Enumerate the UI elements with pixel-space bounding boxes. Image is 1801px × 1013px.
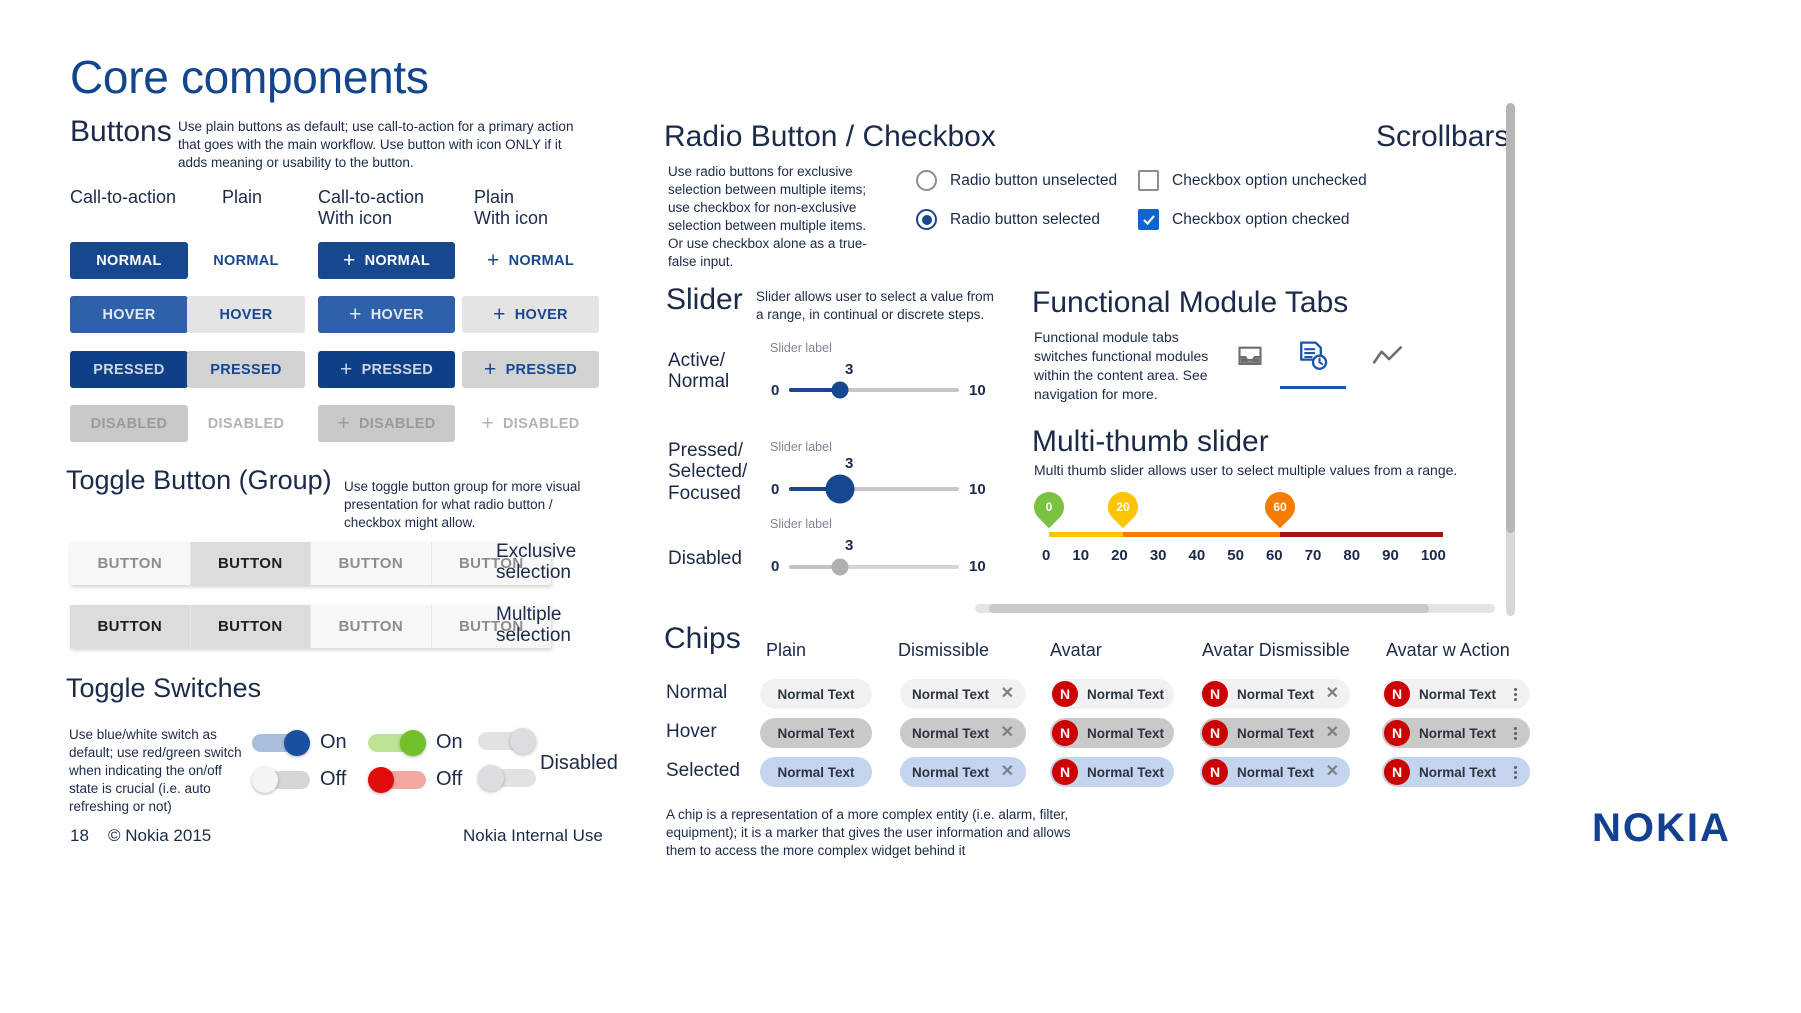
- button-label: NORMAL: [96, 253, 161, 269]
- tab-document-clock[interactable]: [1296, 340, 1346, 389]
- button-plain-disabled: DISABLED: [187, 405, 305, 442]
- slider-row-2-state: Disabled: [668, 548, 742, 570]
- tick: 40: [1189, 547, 1206, 564]
- avatar: N: [1384, 720, 1410, 746]
- chip-plain-normal[interactable]: Normal Text: [760, 679, 872, 709]
- slider-thumb[interactable]: [826, 475, 855, 504]
- slider-row-0-state: Active/ Normal: [668, 350, 729, 393]
- nokia-logo: NOKIA: [1592, 806, 1731, 851]
- label-line-2: selection: [496, 625, 571, 646]
- multi-slider-thumb-1[interactable]: 20: [1102, 486, 1144, 528]
- slider-heading: Slider: [666, 283, 743, 317]
- chip-label: Normal Text: [1419, 726, 1496, 741]
- tick: 100: [1421, 547, 1446, 564]
- button-label: DISABLED: [208, 416, 285, 432]
- switch-knob: [284, 730, 310, 756]
- button-plain-normal[interactable]: NORMAL: [187, 242, 305, 279]
- button-label: DISABLED: [91, 416, 168, 432]
- button-cta-icon-pressed[interactable]: +PRESSED: [318, 351, 455, 388]
- button-cta-normal[interactable]: NORMAL: [70, 242, 188, 279]
- radio-selected-icon[interactable]: [916, 209, 937, 230]
- multi-slider-segment-0: [1049, 532, 1123, 537]
- chips-col-avatar-dismissible: Avatar Dismissible: [1202, 640, 1350, 661]
- tick: 70: [1305, 547, 1322, 564]
- button-label: HOVER: [515, 307, 568, 323]
- button-plain-hover[interactable]: HOVER: [187, 296, 305, 333]
- multi-slider-thumb-2[interactable]: 60: [1259, 486, 1301, 528]
- chip-dismissible-normal[interactable]: Normal Text✕: [900, 679, 1026, 709]
- toggle-group-description: Use toggle button group for more visual …: [344, 478, 594, 532]
- checkbox-unchecked-label: Checkbox option unchecked: [1172, 172, 1367, 190]
- switch-knob: [478, 765, 504, 791]
- more-vertical-icon[interactable]: [1514, 727, 1517, 740]
- label-line-1: Multiple: [496, 604, 571, 625]
- chip-avatar-action-selected[interactable]: NNormal Text: [1382, 757, 1530, 787]
- multi-slider-segment-2: [1280, 532, 1443, 537]
- multi-slider-description: Multi thumb slider allows user to select…: [1034, 461, 1494, 480]
- toggle-switches-heading: Toggle Switches: [66, 673, 261, 704]
- label-line-2: selection: [496, 562, 576, 583]
- toggle-button[interactable]: BUTTON: [311, 542, 432, 585]
- vertical-scrollbar[interactable]: [1506, 103, 1515, 616]
- button-label: HOVER: [371, 307, 424, 323]
- close-icon[interactable]: ✕: [1326, 725, 1339, 741]
- chip-label: Normal Text: [1419, 687, 1496, 702]
- multi-slider-heading: Multi-thumb slider: [1032, 425, 1269, 459]
- toggle-group-multiple-label: Multiple selection: [496, 604, 571, 647]
- tab-inbox[interactable]: [1236, 343, 1264, 376]
- slide-root: Core components Buttons Use plain button…: [0, 0, 1801, 1013]
- label-line-1: Exclusive: [496, 541, 576, 562]
- tick: 10: [1072, 547, 1089, 564]
- switch-blue-off[interactable]: [252, 767, 310, 793]
- slider-row-2-track: [789, 565, 959, 569]
- radio-checkbox-description: Use radio buttons for exclusive selectio…: [668, 163, 884, 271]
- toggle-button[interactable]: BUTTON: [311, 605, 432, 648]
- tick: 20: [1111, 547, 1128, 564]
- chip-label: Normal Text: [1237, 765, 1314, 780]
- button-plain-icon-normal[interactable]: +NORMAL: [462, 242, 599, 279]
- document-clock-icon: [1296, 340, 1330, 374]
- chips-col-avatar-action: Avatar w Action: [1386, 640, 1510, 661]
- toggle-button[interactable]: BUTTON: [191, 542, 312, 585]
- chip-label: Normal Text: [912, 726, 989, 741]
- horizontal-scrollbar-thumb[interactable]: [989, 604, 1429, 613]
- avatar: N: [1202, 759, 1228, 785]
- tick: 0: [1042, 547, 1050, 564]
- chips-heading: Chips: [664, 622, 741, 656]
- button-cta-disabled: DISABLED: [70, 405, 188, 442]
- multi-slider-ticks: 0 10 20 30 40 50 60 70 80 90 100: [1042, 547, 1446, 564]
- footer-classification: Nokia Internal Use: [463, 826, 603, 846]
- switch-blue-off-label: Off: [320, 768, 346, 791]
- close-icon[interactable]: ✕: [1326, 764, 1339, 780]
- close-icon[interactable]: ✕: [1001, 725, 1014, 741]
- buttons-col-header-2-l2: With icon: [318, 208, 424, 229]
- chip-plain-hover[interactable]: Normal Text: [760, 718, 872, 748]
- slider-row-1-value: 3: [845, 455, 853, 472]
- chip-label: Normal Text: [1087, 726, 1164, 741]
- avatar: N: [1052, 681, 1078, 707]
- toggle-group-exclusive-label: Exclusive selection: [496, 541, 576, 584]
- scrollbars-heading: Scrollbars: [1376, 120, 1509, 154]
- slider-thumb[interactable]: [832, 382, 849, 399]
- toggle-group-multiple[interactable]: BUTTON BUTTON BUTTON BUTTON: [70, 605, 551, 648]
- chip-label: Normal Text: [912, 765, 989, 780]
- slider-row-0-track[interactable]: [789, 388, 959, 392]
- switch-red-off-label: Off: [436, 768, 462, 791]
- slider-row-0-value: 3: [845, 361, 853, 378]
- checkbox-unchecked-icon[interactable]: [1138, 170, 1159, 191]
- multi-slider-segment-1: [1123, 532, 1280, 537]
- slider-row-2-label: Slider label: [770, 517, 832, 531]
- state-line-1: Pressed/: [668, 440, 747, 461]
- button-label: DISABLED: [359, 416, 436, 432]
- state-line-2: Normal: [668, 371, 729, 392]
- buttons-col-header-1: Plain: [222, 187, 262, 208]
- button-label: PRESSED: [93, 362, 164, 378]
- toggle-button[interactable]: BUTTON: [70, 605, 191, 648]
- button-label: DISABLED: [503, 416, 580, 432]
- chips-col-avatar: Avatar: [1050, 640, 1102, 661]
- chip-label: Normal Text: [1087, 765, 1164, 780]
- button-label: PRESSED: [506, 362, 577, 378]
- chip-label: Normal Text: [1237, 726, 1314, 741]
- slider-row-2-min: 0: [771, 558, 779, 575]
- radio-selected-label: Radio button selected: [950, 211, 1100, 229]
- buttons-col-header-0: Call-to-action: [70, 187, 176, 208]
- close-icon[interactable]: ✕: [1001, 686, 1014, 702]
- radio-checkbox-heading: Radio Button / Checkbox: [664, 120, 996, 154]
- state-line-3: Focused: [668, 483, 747, 504]
- slider-row-1-track[interactable]: [789, 487, 959, 491]
- chips-col-plain: Plain: [766, 640, 806, 661]
- chip-avatar-hover[interactable]: NNormal Text: [1050, 718, 1174, 748]
- thumb-value: 60: [1265, 492, 1295, 522]
- button-plain-icon-disabled: +DISABLED: [462, 405, 599, 442]
- chip-dismissible-hover[interactable]: Normal Text✕: [900, 718, 1026, 748]
- switch-blue-on-label: On: [320, 731, 347, 754]
- more-vertical-icon[interactable]: [1514, 766, 1517, 779]
- slider-row-0-min: 0: [771, 382, 779, 399]
- buttons-col-header-2: Call-to-action With icon: [318, 187, 424, 229]
- toggle-group-exclusive[interactable]: BUTTON BUTTON BUTTON BUTTON: [70, 542, 551, 585]
- button-plain-icon-hover[interactable]: +HOVER: [462, 296, 599, 333]
- module-tabs-description: Functional module tabs switches function…: [1034, 328, 1224, 404]
- switch-disabled-on: [478, 728, 536, 754]
- radio-unselected-icon[interactable]: [916, 170, 937, 191]
- chip-label: Normal Text: [777, 765, 854, 780]
- avatar: N: [1052, 759, 1078, 785]
- state-line-2: Selected/: [668, 461, 747, 482]
- buttons-col-header-0-l1: Call-to-action: [70, 187, 176, 208]
- tick: 50: [1227, 547, 1244, 564]
- button-plain-pressed[interactable]: PRESSED: [187, 351, 305, 388]
- state-line-1: Disabled: [668, 548, 742, 570]
- vertical-scrollbar-thumb[interactable]: [1506, 103, 1515, 533]
- check-icon: [1142, 213, 1156, 227]
- slider-row-1-max: 10: [969, 481, 986, 498]
- horizontal-scrollbar[interactable]: [975, 604, 1495, 613]
- thumb-value: 20: [1108, 492, 1138, 522]
- button-label: HOVER: [102, 307, 155, 323]
- button-label: HOVER: [219, 307, 272, 323]
- checkbox-option-unchecked[interactable]: Checkbox option unchecked: [1138, 170, 1367, 191]
- page-title: Core components: [70, 50, 429, 104]
- button-label: PRESSED: [362, 362, 433, 378]
- chip-label: Normal Text: [1087, 687, 1164, 702]
- avatar: N: [1384, 681, 1410, 707]
- buttons-col-header-1-l1: Plain: [222, 187, 262, 208]
- buttons-col-header-3-l1: Plain: [474, 187, 548, 208]
- switch-knob: [368, 767, 394, 793]
- line-chart-icon: [1372, 344, 1404, 370]
- slider-row-2-value: 3: [845, 537, 853, 554]
- buttons-col-header-3-l2: With icon: [474, 208, 548, 229]
- slider-description: Slider allows user to select a value fro…: [756, 288, 1001, 324]
- switch-green-on-label: On: [436, 731, 463, 754]
- button-cta-hover[interactable]: HOVER: [70, 296, 188, 333]
- slider-row-1-label: Slider label: [770, 440, 832, 454]
- button-label: NORMAL: [365, 253, 430, 269]
- button-cta-icon-disabled: +DISABLED: [318, 405, 455, 442]
- footer-page-number: 18: [70, 826, 89, 846]
- close-icon[interactable]: ✕: [1326, 686, 1339, 702]
- toggle-group-heading: Toggle Button (Group): [66, 465, 332, 496]
- state-line-1: Active/: [668, 350, 729, 371]
- chip-avatar-action-hover[interactable]: NNormal Text: [1382, 718, 1530, 748]
- button-label: NORMAL: [213, 253, 278, 269]
- chip-label: Normal Text: [777, 687, 854, 702]
- chips-description: A chip is a representation of a more com…: [666, 806, 1096, 860]
- thumb-value: 0: [1034, 492, 1064, 522]
- tick: 60: [1266, 547, 1283, 564]
- more-vertical-icon[interactable]: [1514, 688, 1517, 701]
- toggle-button[interactable]: BUTTON: [191, 605, 312, 648]
- footer-copyright: © Nokia 2015: [108, 826, 211, 846]
- chips-col-dismissible: Dismissible: [898, 640, 989, 661]
- chip-label: Normal Text: [912, 687, 989, 702]
- multi-slider-thumb-0[interactable]: 0: [1028, 486, 1070, 528]
- buttons-description: Use plain buttons as default; use call-t…: [178, 118, 578, 172]
- switch-blue-on[interactable]: [252, 730, 310, 756]
- avatar: N: [1052, 720, 1078, 746]
- tab-selected-indicator: [1280, 386, 1346, 389]
- tab-line-chart[interactable]: [1372, 344, 1404, 375]
- buttons-col-header-3: Plain With icon: [474, 187, 548, 229]
- button-plain-icon-pressed[interactable]: +PRESSED: [462, 351, 599, 388]
- radio-unselected-label: Radio button unselected: [950, 172, 1117, 190]
- radio-option-unselected[interactable]: Radio button unselected: [916, 170, 1117, 191]
- chip-plain-selected[interactable]: Normal Text: [760, 757, 872, 787]
- switch-green-on[interactable]: [368, 730, 426, 756]
- button-cta-icon-normal[interactable]: +NORMAL: [318, 242, 455, 279]
- switch-disabled-label: Disabled: [540, 752, 618, 775]
- button-cta-icon-hover[interactable]: +HOVER: [318, 296, 455, 333]
- chip-label: Normal Text: [1237, 687, 1314, 702]
- module-tabs-heading: Functional Module Tabs: [1032, 286, 1348, 320]
- checkbox-checked-label: Checkbox option checked: [1172, 211, 1350, 229]
- slider-row-1-state: Pressed/ Selected/ Focused: [668, 440, 747, 504]
- close-icon[interactable]: ✕: [1001, 764, 1014, 780]
- buttons-col-header-2-l1: Call-to-action: [318, 187, 424, 208]
- slider-row-1-min: 0: [771, 481, 779, 498]
- chip-dismissible-selected[interactable]: Normal Text✕: [900, 757, 1026, 787]
- slider-row-2-max: 10: [969, 558, 986, 575]
- avatar: N: [1384, 759, 1410, 785]
- buttons-heading: Buttons: [70, 115, 172, 149]
- chip-avatar-selected[interactable]: NNormal Text: [1050, 757, 1174, 787]
- chip-avatar-dismissible-selected[interactable]: NNormal Text✕: [1200, 757, 1350, 787]
- chip-label: Normal Text: [1419, 765, 1496, 780]
- chip-label: Normal Text: [777, 726, 854, 741]
- tick: 90: [1382, 547, 1399, 564]
- chips-row-normal: Normal: [666, 682, 727, 704]
- slider-row-0-max: 10: [969, 382, 986, 399]
- toggle-switches-description: Use blue/white switch as default; use re…: [69, 726, 249, 816]
- chips-row-selected: Selected: [666, 760, 740, 782]
- switch-knob: [400, 730, 426, 756]
- chip-avatar-action-normal[interactable]: NNormal Text: [1382, 679, 1530, 709]
- inbox-tray-icon: [1236, 343, 1264, 371]
- button-label: PRESSED: [210, 362, 281, 378]
- tick: 30: [1150, 547, 1167, 564]
- switch-disabled-off: [478, 765, 536, 791]
- button-cta-pressed[interactable]: PRESSED: [70, 351, 188, 388]
- slider-row-0-label: Slider label: [770, 341, 832, 355]
- chip-avatar-dismissible-normal[interactable]: NNormal Text✕: [1200, 679, 1350, 709]
- chip-avatar-dismissible-hover[interactable]: NNormal Text✕: [1200, 718, 1350, 748]
- tick: 80: [1343, 547, 1360, 564]
- toggle-button[interactable]: BUTTON: [70, 542, 191, 585]
- chip-avatar-normal[interactable]: NNormal Text: [1050, 679, 1174, 709]
- chips-row-hover: Hover: [666, 721, 717, 743]
- slider-thumb: [832, 559, 849, 576]
- checkbox-checked-icon[interactable]: [1138, 209, 1159, 230]
- radio-option-selected[interactable]: Radio button selected: [916, 209, 1100, 230]
- checkbox-option-checked[interactable]: Checkbox option checked: [1138, 209, 1350, 230]
- avatar: N: [1202, 681, 1228, 707]
- switch-red-off[interactable]: [368, 767, 426, 793]
- switch-knob: [252, 767, 278, 793]
- switch-knob: [510, 728, 536, 754]
- button-label: NORMAL: [509, 253, 574, 269]
- avatar: N: [1202, 720, 1228, 746]
